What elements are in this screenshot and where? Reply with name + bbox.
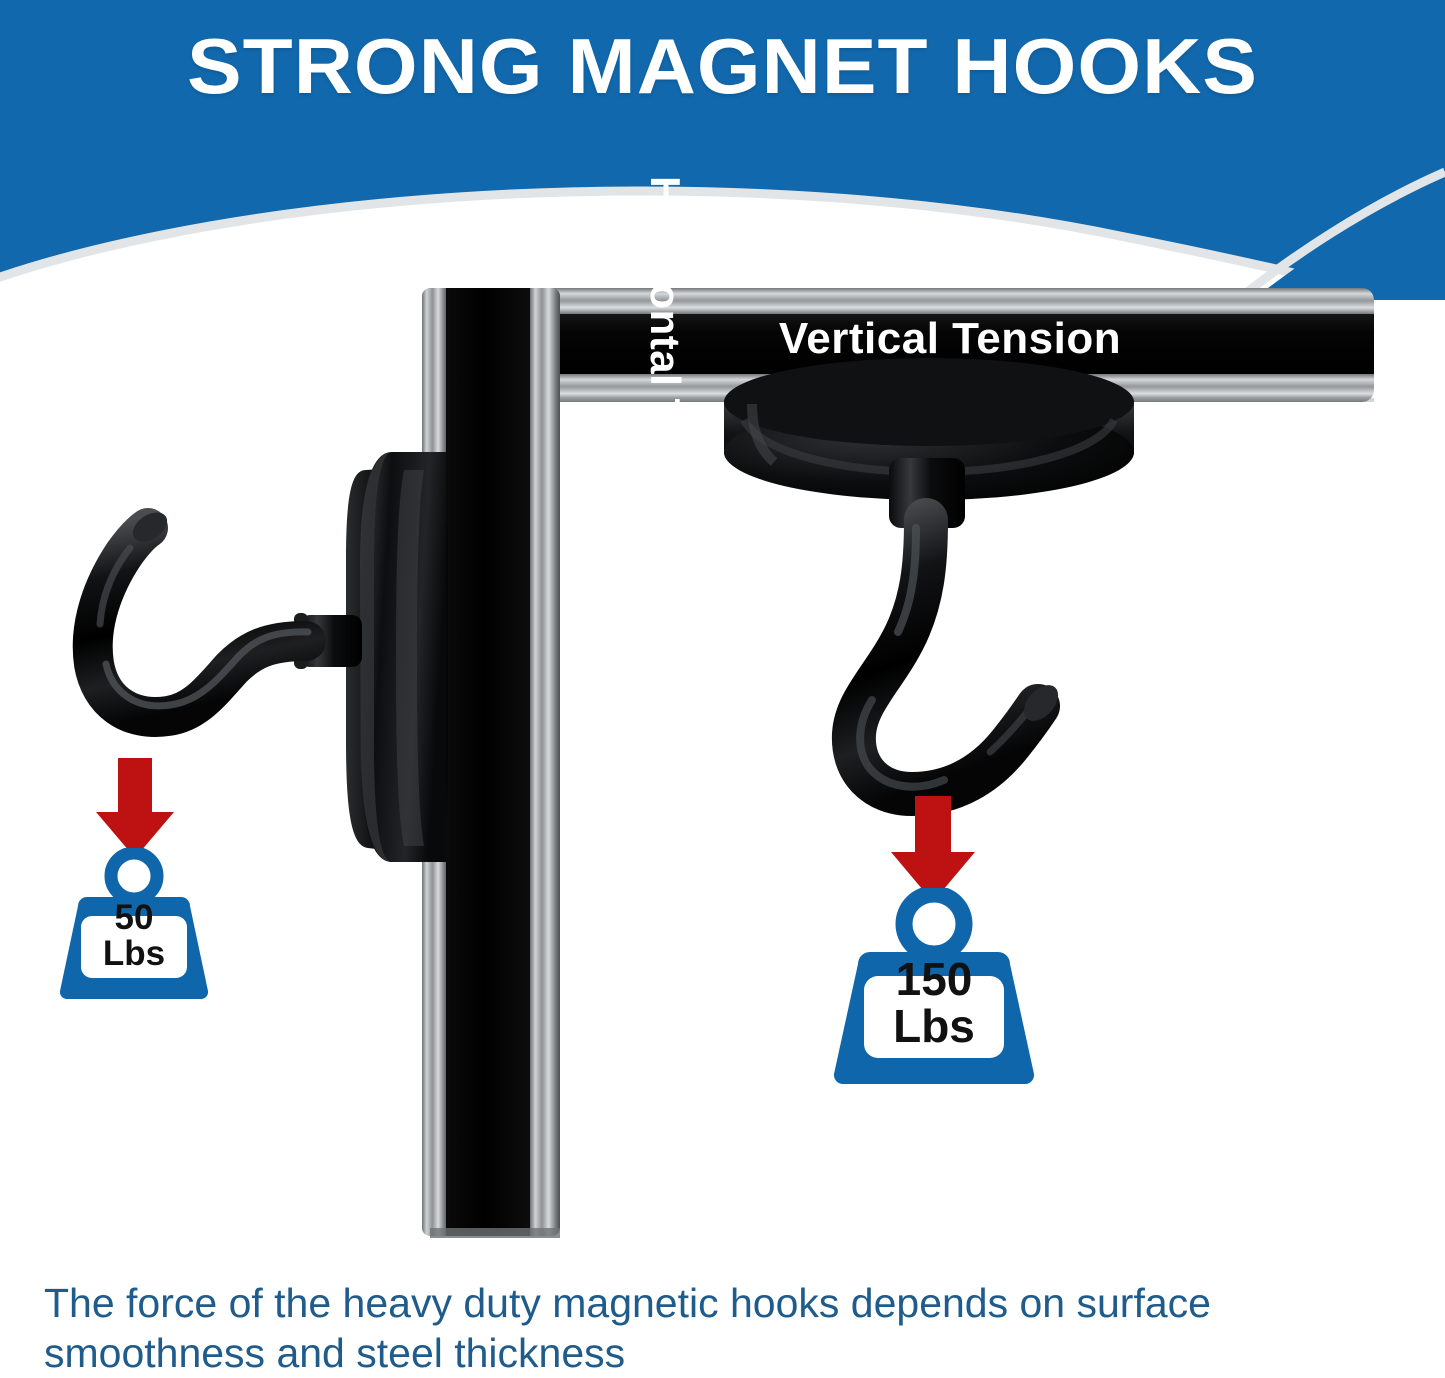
weight-label-50lbs: 50 Lbs xyxy=(74,900,194,971)
vertical-hook xyxy=(854,458,1065,794)
load-arrow-left xyxy=(96,758,174,858)
weight-label-150lbs: 150 Lbs xyxy=(854,956,1014,1050)
product-diagram xyxy=(0,0,1445,1270)
caption-text: The force of the heavy duty magnetic hoo… xyxy=(44,1278,1394,1378)
horizontal-hook xyxy=(93,506,362,717)
weight-badge-150lbs: 150 Lbs xyxy=(820,888,1048,1086)
weight-badge-50lbs: 50 Lbs xyxy=(48,848,220,1000)
